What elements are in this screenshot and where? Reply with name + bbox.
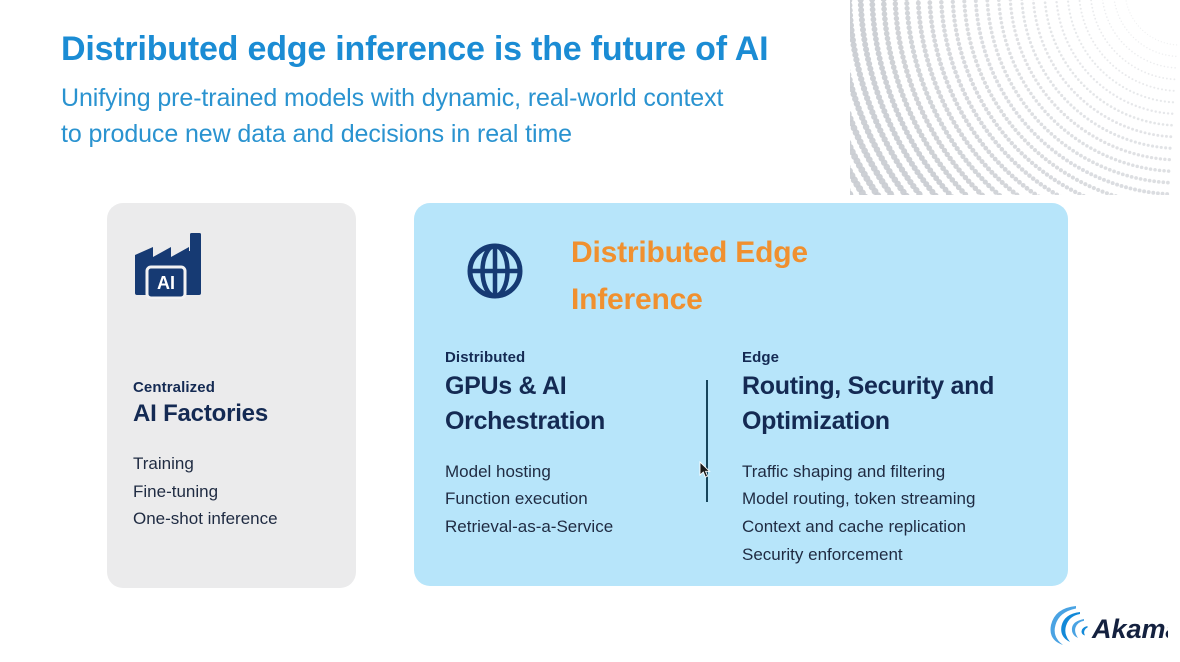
title-block: Distributed edge inference is the future…: [61, 30, 961, 152]
card-distributed-edge-inference[interactable]: Distributed Edge Inference Distributed G…: [414, 203, 1068, 586]
akamai-wordmark: Akamai: [1091, 614, 1168, 644]
column-edge: Edge Routing, Security and Optimization …: [742, 348, 1062, 568]
centralized-bullet-list: Training Fine-tuning One-shot inference: [133, 450, 330, 533]
card-centralized-ai-factories[interactable]: AI Centralized AI Factories Training Fin…: [107, 203, 356, 588]
list-item: Function execution: [445, 485, 700, 513]
distributed-card-header: Distributed Edge Inference: [414, 203, 1068, 328]
list-item: Traffic shaping and filtering: [742, 458, 1062, 486]
akamai-logo: Akamai: [1046, 602, 1168, 648]
list-item: One-shot inference: [133, 505, 330, 533]
centralized-headline: AI Factories: [133, 399, 330, 428]
ai-factory-icon: AI: [133, 233, 207, 299]
distributed-card-title-line-1: Distributed Edge: [571, 230, 971, 277]
list-item: Fine-tuning: [133, 478, 330, 506]
distributed-card-title-line-2: Inference: [571, 277, 971, 324]
list-item: Model routing, token streaming: [742, 485, 1062, 513]
ai-factory-icon-label: AI: [157, 273, 175, 293]
distributed-card-title: Distributed Edge Inference: [571, 230, 971, 323]
edge-headline: Routing, Security and Optimization: [742, 369, 1062, 440]
distributed-card-columns: Distributed GPUs & AI Orchestration Mode…: [414, 348, 1068, 588]
page-subtitle-line-2: to produce new data and decisions in rea…: [61, 117, 961, 153]
distributed-bullet-list: Model hosting Function execution Retriev…: [445, 458, 700, 541]
edge-headline-line-1: Routing, Security and: [742, 369, 1062, 405]
page-title: Distributed edge inference is the future…: [61, 30, 961, 69]
list-item: Training: [133, 450, 330, 478]
list-item: Retrieval-as-a-Service: [445, 513, 700, 541]
cards-row: AI Centralized AI Factories Training Fin…: [0, 203, 1180, 593]
list-item: Security enforcement: [742, 541, 1062, 569]
edge-bullet-list: Traffic shaping and filtering Model rout…: [742, 458, 1062, 569]
edge-headline-line-2: Optimization: [742, 404, 1062, 440]
list-item: Model hosting: [445, 458, 700, 486]
slide-canvas: Distributed edge inference is the future…: [0, 0, 1180, 662]
distributed-headline-line-2: Orchestration: [445, 404, 700, 440]
distributed-headline-line-1: GPUs & AI: [445, 369, 700, 405]
distributed-headline: GPUs & AI Orchestration: [445, 369, 700, 440]
centralized-eyebrow: Centralized: [133, 379, 330, 398]
list-item: Context and cache replication: [742, 513, 1062, 541]
page-subtitle: Unifying pre-trained models with dynamic…: [61, 81, 961, 152]
column-distributed: Distributed GPUs & AI Orchestration Mode…: [445, 348, 700, 541]
distributed-eyebrow: Distributed: [445, 348, 700, 368]
page-subtitle-line-1: Unifying pre-trained models with dynamic…: [61, 81, 961, 117]
column-divider: [706, 380, 708, 502]
globe-icon: [466, 242, 524, 305]
akamai-wave-icon: [1051, 606, 1088, 645]
edge-eyebrow: Edge: [742, 348, 1062, 368]
